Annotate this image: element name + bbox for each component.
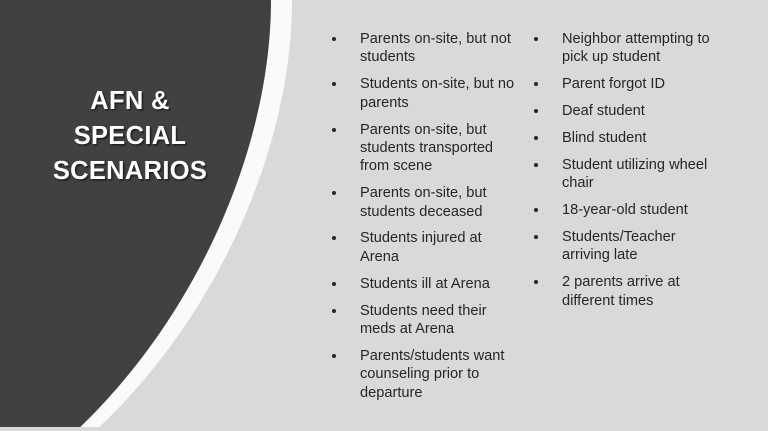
list-item: Student utilizing wheel chair	[527, 156, 723, 193]
list-item-label: Students ill at Arena	[360, 275, 520, 293]
bullet-point-icon	[332, 309, 336, 313]
list-item: Students/Teacher arriving late	[527, 228, 723, 265]
bullet-column-2: Neighbor attempting to pick up student P…	[527, 30, 723, 310]
list-item: Deaf student	[527, 102, 723, 120]
list-item: Parents on-site, but students deceased	[325, 184, 520, 221]
list-item: Students injured at Arena	[325, 229, 520, 266]
list-item: Students on-site, but no parents	[325, 75, 520, 112]
bullet-point-icon	[332, 82, 336, 86]
list-item: Students ill at Arena	[325, 275, 520, 293]
bullet-point-icon	[534, 208, 538, 212]
list-item-label: Student utilizing wheel chair	[562, 156, 723, 193]
list-item-label: Parents on-site, but students transporte…	[360, 121, 520, 176]
list-item-label: Parents/students want counseling prior t…	[360, 347, 520, 402]
list-item: Neighbor attempting to pick up student	[527, 30, 723, 67]
list-item-label: Students on-site, but no parents	[360, 75, 520, 112]
bottom-edge-strip	[0, 427, 768, 431]
list-item: Parent forgot ID	[527, 75, 723, 93]
bullet-column-1: Parents on-site, but not students Studen…	[325, 30, 520, 402]
list-item: Parents on-site, but not students	[325, 30, 520, 67]
bullet-point-icon	[534, 280, 538, 284]
bullet-point-icon	[534, 136, 538, 140]
bullet-point-icon	[332, 37, 336, 41]
list-item: 2 parents arrive at different times	[527, 273, 723, 310]
list-item-label: Parents on-site, but not students	[360, 30, 520, 67]
list-item: Parents on-site, but students transporte…	[325, 121, 520, 176]
list-item-label: 2 parents arrive at different times	[562, 273, 723, 310]
list-item: 18-year-old student	[527, 201, 723, 219]
bullet-point-icon	[332, 354, 336, 358]
bullet-list-1: Parents on-site, but not students Studen…	[325, 30, 520, 402]
bullet-point-icon	[534, 163, 538, 167]
list-item: Blind student	[527, 129, 723, 147]
bullet-point-icon	[534, 109, 538, 113]
list-item: Parents/students want counseling prior t…	[325, 347, 520, 402]
bullet-point-icon	[534, 37, 538, 41]
list-item-label: Students injured at Arena	[360, 229, 520, 266]
bullet-point-icon	[332, 191, 336, 195]
list-item-label: Parent forgot ID	[562, 75, 723, 93]
bullet-point-icon	[332, 236, 336, 240]
bullet-point-icon	[332, 128, 336, 132]
list-item-label: 18-year-old student	[562, 201, 723, 219]
slide-title-block: AFN & SPECIAL SCENARIOS	[8, 84, 252, 190]
list-item: Students need their meds at Arena	[325, 302, 520, 339]
bullet-list-2: Neighbor attempting to pick up student P…	[527, 30, 723, 310]
bullet-point-icon	[534, 235, 538, 239]
presentation-slide: AFN & SPECIAL SCENARIOS Parents on-site,…	[0, 0, 768, 431]
list-item-label: Neighbor attempting to pick up student	[562, 30, 723, 67]
bullet-point-icon	[534, 82, 538, 86]
list-item-label: Parents on-site, but students deceased	[360, 184, 520, 221]
bullet-point-icon	[332, 282, 336, 286]
list-item-label: Students need their meds at Arena	[360, 302, 520, 339]
list-item-label: Students/Teacher arriving late	[562, 228, 723, 265]
list-item-label: Blind student	[562, 129, 723, 147]
list-item-label: Deaf student	[562, 102, 723, 120]
page-title: AFN & SPECIAL SCENARIOS	[8, 84, 252, 190]
